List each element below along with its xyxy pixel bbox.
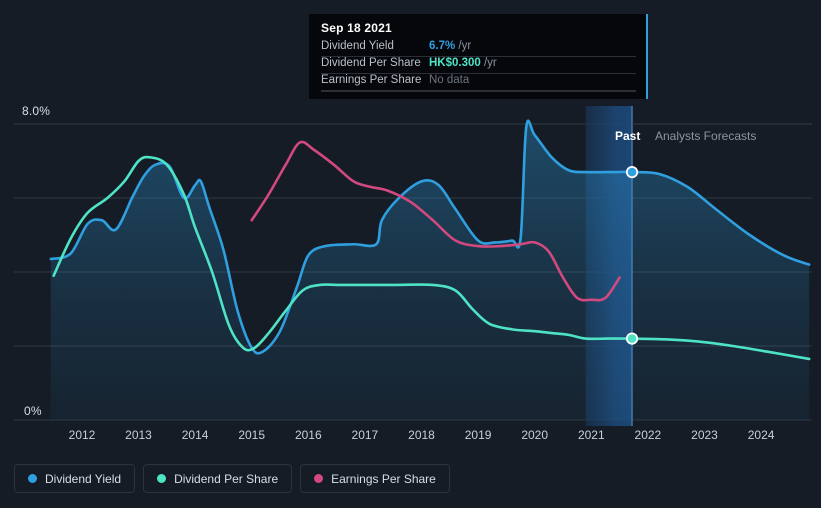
- legend-dot-icon: [157, 474, 166, 483]
- chart-tooltip: Sep 18 2021 Dividend Yield 6.7% /yr Divi…: [309, 14, 648, 99]
- legend-label: Dividend Per Share: [174, 472, 278, 486]
- legend-item-dividend-yield[interactable]: Dividend Yield: [14, 464, 135, 493]
- tooltip-bottom-rule: [321, 91, 636, 92]
- x-axis-tick-2012: 2012: [69, 428, 96, 442]
- tooltip-label: Dividend Yield: [321, 40, 394, 52]
- tooltip-row-dividend-per-share: Dividend Per Share HK$0.300 /yr: [321, 57, 636, 74]
- x-axis-labels: 2012201320142015201620172018201920202021…: [0, 428, 821, 446]
- x-axis-tick-2022: 2022: [635, 428, 662, 442]
- past-label: Past: [615, 129, 640, 143]
- tooltip-row-earnings-per-share: Earnings Per Share No data: [321, 74, 636, 91]
- x-axis-tick-2016: 2016: [295, 428, 322, 442]
- tooltip-value: 6.7% /yr: [429, 40, 471, 52]
- tooltip-value-number: 6.7%: [429, 40, 455, 52]
- x-axis-tick-2017: 2017: [352, 428, 379, 442]
- tooltip-value-number: HK$0.300: [429, 57, 481, 69]
- x-axis-tick-2019: 2019: [465, 428, 492, 442]
- tooltip-date: Sep 18 2021: [321, 21, 392, 35]
- tooltip-value: HK$0.300 /yr: [429, 57, 497, 69]
- forecast-label: Analysts Forecasts: [655, 129, 756, 143]
- tooltip-label: Earnings Per Share: [321, 74, 421, 86]
- x-axis-tick-2013: 2013: [125, 428, 152, 442]
- legend-dot-icon: [28, 474, 37, 483]
- x-axis-tick-2015: 2015: [238, 428, 265, 442]
- tooltip-value-unit: /yr: [481, 57, 497, 69]
- legend-item-dividend-per-share[interactable]: Dividend Per Share: [143, 464, 292, 493]
- legend-dot-icon: [314, 474, 323, 483]
- y-axis-label-min: 0%: [24, 404, 42, 418]
- y-axis-label-max: 8.0%: [22, 104, 50, 118]
- tooltip-label: Dividend Per Share: [321, 57, 421, 69]
- x-axis-tick-2018: 2018: [408, 428, 435, 442]
- legend-label: Dividend Yield: [45, 472, 121, 486]
- tooltip-value-unit: /yr: [455, 40, 471, 52]
- legend-label: Earnings Per Share: [331, 472, 436, 486]
- tooltip-row-dividend-yield: Dividend Yield 6.7% /yr: [321, 40, 636, 57]
- chart-legend[interactable]: Dividend YieldDividend Per ShareEarnings…: [14, 464, 450, 493]
- tooltip-no-data: No data: [429, 74, 469, 86]
- x-axis-tick-2014: 2014: [182, 428, 209, 442]
- dividend-yield-area: [51, 121, 809, 420]
- x-axis-tick-2023: 2023: [691, 428, 718, 442]
- x-axis-tick-2021: 2021: [578, 428, 605, 442]
- dividend-chart: 8.0% 0% 20122013201420152016201720182019…: [0, 0, 821, 508]
- legend-item-earnings-per-share[interactable]: Earnings Per Share: [300, 464, 450, 493]
- x-axis-tick-2020: 2020: [521, 428, 548, 442]
- x-axis-tick-2024: 2024: [748, 428, 775, 442]
